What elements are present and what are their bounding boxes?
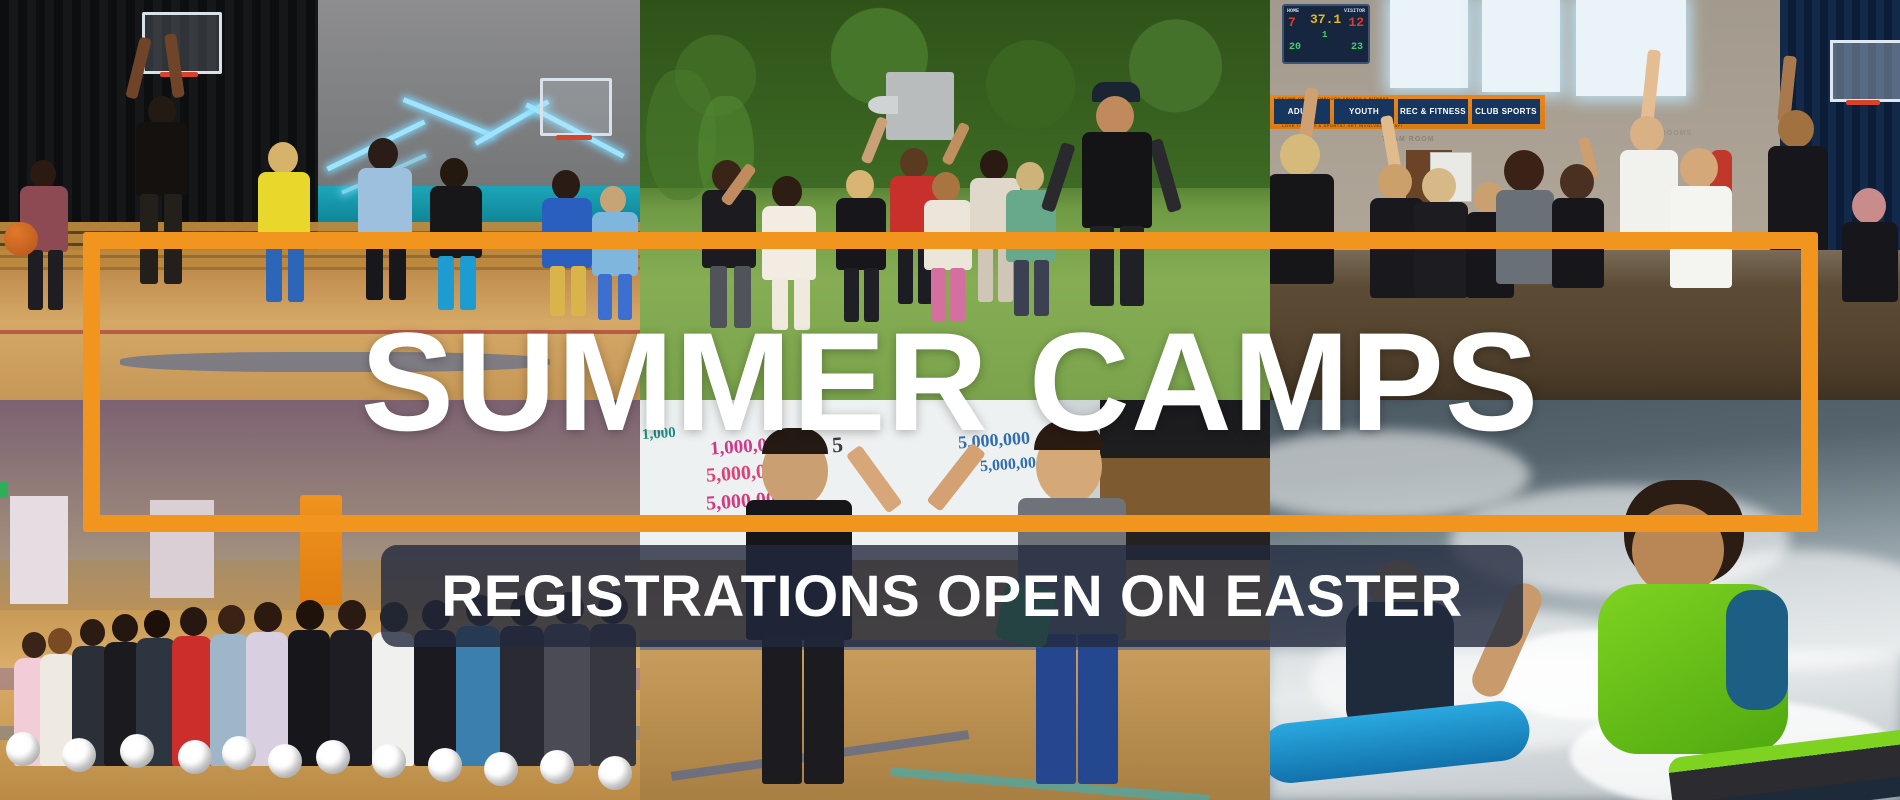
camper-figure — [456, 626, 500, 766]
camper-head — [254, 602, 282, 632]
backboard — [142, 12, 222, 74]
soccer-ball — [222, 736, 256, 770]
soccer-ball — [540, 750, 574, 784]
scoreboard-home-score: 7 — [1288, 15, 1296, 30]
soccer-ball — [120, 734, 154, 768]
soccer-ball — [372, 744, 406, 778]
hoop-rim — [556, 135, 592, 140]
surfer-wetsuit — [1726, 590, 1788, 710]
camper-head — [80, 619, 105, 646]
scoreboard-home-fouls: 20 — [1289, 42, 1301, 53]
camper-head — [180, 607, 207, 636]
soccer-ball — [62, 738, 96, 772]
camper-head — [144, 610, 170, 638]
window — [1390, 0, 1468, 88]
scoreboard-clock: 37.1 — [1310, 12, 1341, 27]
backboard — [540, 78, 612, 136]
scoreboard-visitor-score: 12 — [1348, 15, 1364, 30]
facility-sign-rec-fitness: REC & FITNESS — [1398, 99, 1468, 124]
scoreboard-home-label: HOME — [1287, 8, 1299, 14]
camper-figure — [414, 630, 456, 766]
scoreboard-visitor-label: VISITOR — [1344, 8, 1365, 14]
scoreboard-period: 1 — [1322, 30, 1327, 40]
soccer-ball — [428, 748, 462, 782]
soccer-ball — [484, 752, 518, 786]
camper-head — [22, 632, 46, 658]
page-title: SUMMER CAMPS — [0, 232, 1900, 532]
camper-head — [48, 628, 72, 654]
facility-sign-club-sports: CLUB SPORTS — [1472, 99, 1540, 124]
scoreboard: HOME VISITOR 7 37.1 12 1 20 23 — [1282, 4, 1370, 64]
soccer-ball — [268, 744, 302, 778]
camper-head — [338, 600, 366, 630]
field-equipment — [868, 96, 898, 114]
registration-notice-text: REGISTRATIONS OPEN ON EASTER — [441, 563, 1463, 630]
soccer-ball — [316, 740, 350, 774]
soccer-ball — [178, 740, 212, 774]
window — [1576, 0, 1686, 96]
hoop-rim — [1846, 100, 1880, 105]
summer-camps-hero-banner: HOME VISITOR 7 37.1 12 1 20 23 LIFETIME … — [0, 0, 1900, 800]
camper-head — [296, 600, 324, 630]
registration-notice-plaque: REGISTRATIONS OPEN ON EASTER — [381, 545, 1523, 647]
window — [1482, 0, 1560, 92]
camper-head — [112, 614, 138, 642]
soccer-ball — [6, 732, 40, 766]
scoreboard-visitor-fouls: 23 — [1351, 42, 1363, 53]
backboard — [1830, 40, 1900, 102]
camper-head — [218, 605, 245, 634]
camper-figure — [500, 626, 544, 766]
soccer-ball — [598, 756, 632, 790]
